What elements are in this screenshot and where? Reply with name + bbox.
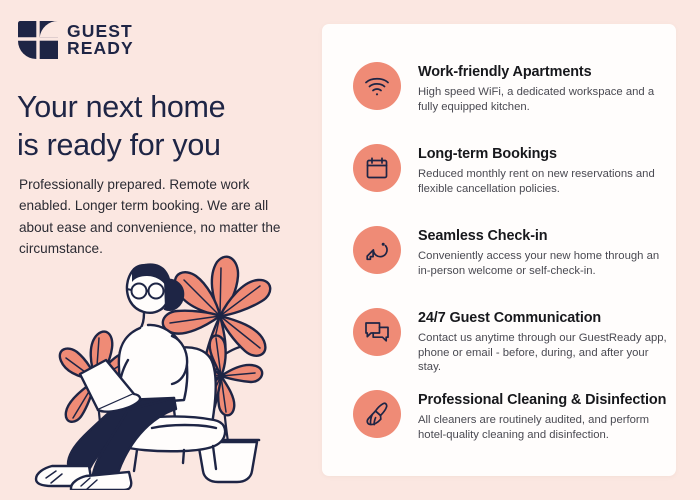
feature-item-cleaning-disinfection[interactable]: Professional Cleaning & Disinfection All…	[353, 390, 668, 442]
feature-description: Contact us anytime through our GuestRead…	[418, 331, 668, 375]
woman-working-on-laptop-with-plants-illustration	[24, 228, 320, 490]
feature-text: Professional Cleaning & Disinfection All…	[418, 390, 668, 442]
promo-page: GUEST READY Your next home is ready for …	[0, 0, 700, 500]
brand-name-line2: READY	[67, 40, 134, 58]
feature-item-guest-communication[interactable]: 24/7 Guest Communication Contact us anyt…	[353, 308, 668, 375]
feature-title: Professional Cleaning & Disinfection	[418, 392, 668, 409]
page-title: Your next home is ready for you	[17, 88, 312, 164]
feature-description: High speed WiFi, a dedicated workspace a…	[418, 85, 668, 114]
feature-title: Long-term Bookings	[418, 146, 668, 163]
feature-description: Reduced monthly rent on new reservations…	[418, 167, 668, 196]
headline-line-1: Your next home	[17, 88, 312, 126]
feature-description: Conveniently access your new home throug…	[418, 249, 668, 278]
feature-title: Seamless Check-in	[418, 228, 668, 245]
calendar-icon	[353, 144, 401, 192]
feature-description: All cleaners are routinely audited, and …	[418, 413, 668, 442]
feature-text: Work-friendly Apartments High speed WiFi…	[418, 62, 668, 114]
features-card: Work-friendly Apartments High speed WiFi…	[322, 24, 676, 476]
broom-icon	[353, 390, 401, 438]
wifi-icon	[353, 62, 401, 110]
feature-title: Work-friendly Apartments	[418, 64, 668, 81]
feature-item-work-friendly-apartments[interactable]: Work-friendly Apartments High speed WiFi…	[353, 62, 668, 114]
brand-wordmark: GUEST READY	[67, 23, 134, 58]
feature-text: 24/7 Guest Communication Contact us anyt…	[418, 308, 668, 375]
feature-text: Seamless Check-in Conveniently access yo…	[418, 226, 668, 278]
feature-item-seamless-check-in[interactable]: Seamless Check-in Conveniently access yo…	[353, 226, 668, 278]
key-icon	[353, 226, 401, 274]
feature-title: 24/7 Guest Communication	[418, 310, 668, 327]
chat-bubbles-icon	[353, 308, 401, 356]
feature-text: Long-term Bookings Reduced monthly rent …	[418, 144, 668, 196]
left-column: GUEST READY Your next home is ready for …	[0, 0, 322, 500]
brand-logo[interactable]: GUEST READY	[18, 21, 134, 59]
feature-item-long-term-bookings[interactable]: Long-term Bookings Reduced monthly rent …	[353, 144, 668, 196]
headline-line-2: is ready for you	[17, 126, 312, 164]
guestready-logo-mark	[18, 21, 58, 59]
